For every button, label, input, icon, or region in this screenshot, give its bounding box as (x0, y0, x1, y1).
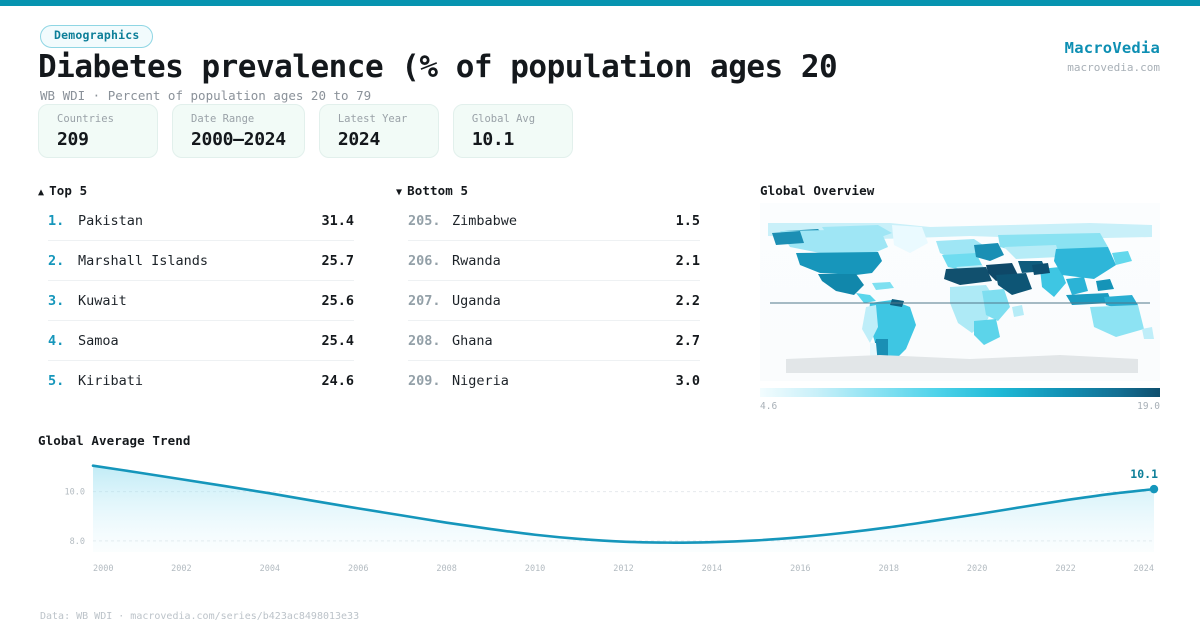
rank-number: 207. (408, 293, 452, 309)
colorbar-min-label: 4.6 (760, 401, 777, 412)
world-map-svg (760, 203, 1160, 381)
country-name: Kiribati (78, 373, 321, 389)
brand-url: macrovedia.com (1065, 61, 1160, 74)
table-row[interactable]: 205. Zimbabwe 1.5 (408, 201, 700, 241)
stat-card-global-avg: Global Avg 10.1 (453, 104, 573, 158)
country-name: Nigeria (452, 373, 676, 389)
table-row[interactable]: 5. Kiribati 24.6 (48, 361, 354, 401)
svg-text:10.0: 10.0 (65, 488, 85, 498)
map-colorbar (760, 388, 1160, 397)
svg-text:2020: 2020 (967, 564, 987, 574)
stat-card-latest-year: Latest Year 2024 (319, 104, 439, 158)
table-row[interactable]: 209. Nigeria 3.0 (408, 361, 700, 401)
country-value: 25.6 (321, 293, 354, 309)
svg-text:2000: 2000 (93, 564, 113, 574)
svg-text:2022: 2022 (1055, 564, 1075, 574)
svg-text:2008: 2008 (436, 564, 456, 574)
header: Demographics Diabetes prevalence (% of p… (0, 6, 1200, 102)
country-name: Ghana (452, 333, 676, 349)
table-row[interactable]: 2. Marshall Islands 25.7 (48, 241, 354, 281)
rank-number: 3. (48, 293, 78, 309)
bottom5-heading-label: Bottom 5 (407, 183, 468, 198)
page-subtitle: WB WDI · Percent of population ages 20 t… (40, 88, 371, 103)
stat-value: 2000—2024 (191, 129, 286, 150)
stat-label: Date Range (191, 113, 286, 126)
chart-end-point (1150, 485, 1158, 493)
table-row[interactable]: 208. Ghana 2.7 (408, 321, 700, 361)
map-region-pakistan (1032, 263, 1050, 275)
caret-up-icon: ▲ (38, 187, 44, 198)
svg-text:2012: 2012 (613, 564, 633, 574)
chart-end-label: 10.1 (1130, 467, 1158, 481)
country-value: 1.5 (676, 213, 700, 229)
country-value: 25.4 (321, 333, 354, 349)
table-row[interactable]: 3. Kuwait 25.6 (48, 281, 354, 321)
stat-value: 209 (57, 129, 139, 150)
country-value: 24.6 (321, 373, 354, 389)
table-row[interactable]: 1. Pakistan 31.4 (48, 201, 354, 241)
stat-label: Global Avg (472, 113, 554, 126)
rank-number: 2. (48, 253, 78, 269)
svg-text:2010: 2010 (525, 564, 545, 574)
chart-x-tick-labels: 2000200220042006200820102012201420162018… (93, 564, 1154, 574)
svg-text:8.0: 8.0 (70, 537, 85, 547)
page-title: Diabetes prevalence (% of population age… (38, 48, 848, 87)
svg-text:2004: 2004 (260, 564, 280, 574)
top5-heading-label: Top 5 (49, 183, 87, 198)
trend-heading: Global Average Trend (38, 433, 191, 448)
svg-text:2006: 2006 (348, 564, 368, 574)
map-heading: Global Overview (760, 183, 874, 198)
top5-list: 1. Pakistan 31.4 2. Marshall Islands 25.… (48, 201, 354, 401)
country-value: 31.4 (321, 213, 354, 229)
colorbar-max-label: 19.0 (1137, 401, 1160, 412)
svg-text:2018: 2018 (879, 564, 899, 574)
rank-number: 1. (48, 213, 78, 229)
caret-down-icon: ▼ (396, 187, 402, 198)
category-badge: Demographics (40, 25, 153, 48)
svg-text:2016: 2016 (790, 564, 810, 574)
table-row[interactable]: 207. Uganda 2.2 (408, 281, 700, 321)
country-value: 25.7 (321, 253, 354, 269)
stat-label: Countries (57, 113, 139, 126)
rank-number: 209. (408, 373, 452, 389)
country-value: 3.0 (676, 373, 700, 389)
table-row[interactable]: 206. Rwanda 2.1 (408, 241, 700, 281)
trend-chart-svg: 8.010.0 10.1 200020022004200620082010201… (38, 452, 1162, 582)
footer-source: Data: WB WDI · macrovedia.com/series/b42… (40, 611, 359, 622)
world-map[interactable] (760, 203, 1160, 381)
rank-number: 5. (48, 373, 78, 389)
stat-value: 2024 (338, 129, 420, 150)
rank-number: 205. (408, 213, 452, 229)
country-value: 2.7 (676, 333, 700, 349)
country-value: 2.1 (676, 253, 700, 269)
svg-text:2002: 2002 (171, 564, 191, 574)
map-region-madagascar (1012, 305, 1024, 317)
svg-text:2014: 2014 (702, 564, 722, 574)
map-region-alaska (772, 231, 804, 245)
rank-number: 208. (408, 333, 452, 349)
country-name: Samoa (78, 333, 321, 349)
brand: MacroVedia macrovedia.com (1065, 39, 1160, 74)
stat-card-countries: Countries 209 (38, 104, 158, 158)
country-value: 2.2 (676, 293, 700, 309)
top5-heading: ▲Top 5 (38, 183, 87, 198)
country-name: Marshall Islands (78, 253, 321, 269)
infographic-page: Demographics Diabetes prevalence (% of p… (0, 0, 1200, 630)
rank-number: 4. (48, 333, 78, 349)
country-name: Zimbabwe (452, 213, 676, 229)
bottom5-list: 205. Zimbabwe 1.5 206. Rwanda 2.1 207. U… (408, 201, 700, 401)
stat-value: 10.1 (472, 129, 554, 150)
table-row[interactable]: 4. Samoa 25.4 (48, 321, 354, 361)
country-name: Rwanda (452, 253, 676, 269)
trend-chart[interactable]: 8.010.0 10.1 200020022004200620082010201… (38, 452, 1162, 582)
country-name: Uganda (452, 293, 676, 309)
country-name: Pakistan (78, 213, 321, 229)
chart-y-tick-labels: 8.010.0 (65, 488, 85, 547)
country-name: Kuwait (78, 293, 321, 309)
stat-card-date-range: Date Range 2000—2024 (172, 104, 305, 158)
brand-name: MacroVedia (1065, 39, 1160, 57)
bottom5-heading: ▼Bottom 5 (396, 183, 468, 198)
svg-text:2024: 2024 (1134, 564, 1154, 574)
stat-cards: Countries 209 Date Range 2000—2024 Lates… (38, 104, 573, 158)
map-region-new-zealand (1142, 327, 1154, 339)
chart-area-fill (93, 466, 1154, 552)
rank-number: 206. (408, 253, 452, 269)
stat-label: Latest Year (338, 113, 420, 126)
